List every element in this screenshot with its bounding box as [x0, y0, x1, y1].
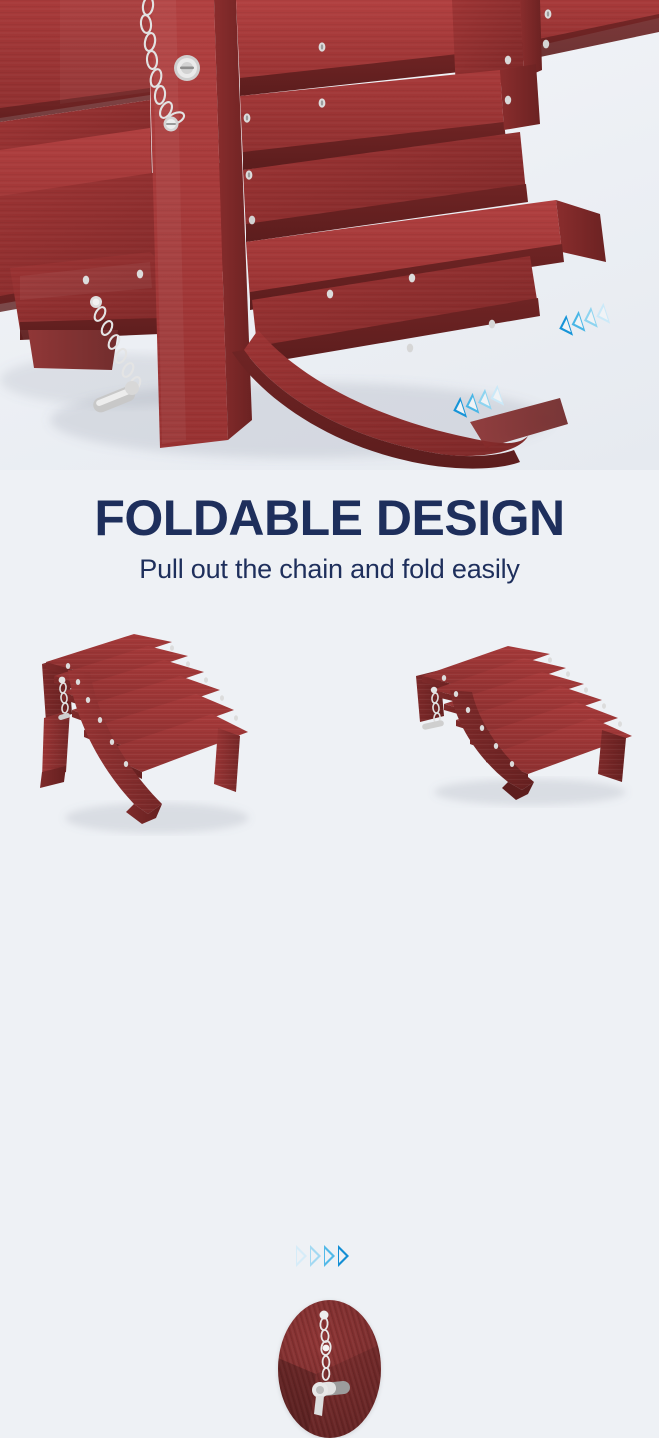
chevron-right-icon [310, 1245, 321, 1267]
headline-section: FOLDABLE DESIGN Pull out the chain and f… [0, 470, 659, 600]
chevron-right-icon [338, 1245, 349, 1267]
ottoman-closeup-illustration [0, 0, 659, 470]
step-transition-arrows [296, 1245, 349, 1267]
chain-pin-detail-circle [278, 1300, 381, 1438]
chevron-right-icon [296, 1245, 307, 1267]
steps-section [0, 600, 659, 879]
page-title: FOLDABLE DESIGN [94, 492, 564, 545]
product-feature-banner: FOLDABLE DESIGN Pull out the chain and f… [0, 0, 659, 879]
hero-product-photo [0, 0, 659, 470]
ottoman-folded-illustration [398, 642, 648, 842]
page-subtitle: Pull out the chain and fold easily [139, 554, 519, 585]
ottoman-unfolded-illustration [22, 622, 282, 852]
chain-pin-detail-illustration [278, 1300, 381, 1438]
chevron-right-icon [324, 1245, 335, 1267]
